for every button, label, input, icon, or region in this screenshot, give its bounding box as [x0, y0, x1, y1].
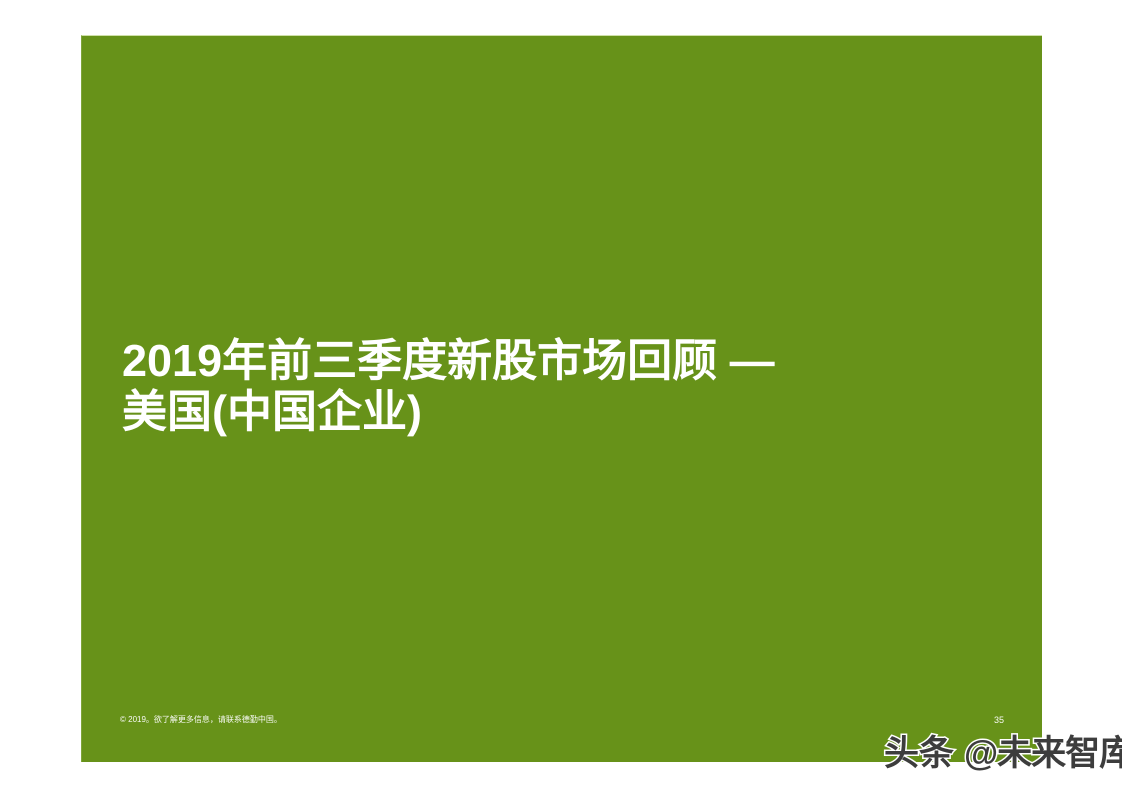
footer-copyright: © 2019。欲了解更多信息，请联系德勤中国。: [120, 714, 282, 726]
title-panel: 2019年前三季度新股市场回顾 — 美国(中国企业) © 2019。欲了解更多信…: [81, 35, 1042, 762]
page-title: 2019年前三季度新股市场回顾 — 美国(中国企业): [122, 335, 952, 437]
slide-canvas: 2019年前三季度新股市场回顾 — 美国(中国企业) © 2019。欲了解更多信…: [0, 0, 1122, 793]
footer: © 2019。欲了解更多信息，请联系德勤中国。 35: [120, 713, 1004, 727]
page-number: 35: [994, 714, 1004, 726]
